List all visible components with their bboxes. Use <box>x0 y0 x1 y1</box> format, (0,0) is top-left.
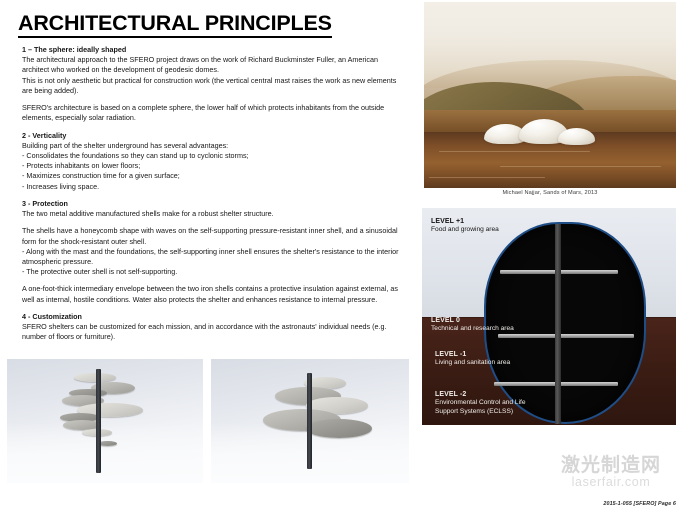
diagram-floor-slab <box>498 334 634 338</box>
section-2-bullet-3: - Maximizes construction time for a give… <box>22 171 404 181</box>
photo-terrain-streak <box>500 166 661 168</box>
paragraph-spacer <box>22 277 404 284</box>
diagram-label-level-minus-1: LEVEL -1 Living and sanitation area <box>435 350 510 368</box>
section-heading-3: 3 - Protection <box>22 199 404 209</box>
page-footer: 2015-1-055 [SFERO] Page 6 <box>603 501 676 507</box>
level-title: LEVEL -1 <box>435 350 510 359</box>
level-title: LEVEL -2 <box>435 390 526 399</box>
section-2-bullet-1: - Consolidates the foundations so they c… <box>22 151 404 161</box>
section-1-paragraph-3: SFERO's architecture is based on a compl… <box>22 103 404 123</box>
photo-caption: Michael Najjar, Sands of Mars, 2013 <box>420 190 680 196</box>
central-mast <box>96 369 101 473</box>
section-2-bullet-2: - Protects inhabitants on lower floors; <box>22 161 404 171</box>
diagram-central-mast <box>555 224 561 424</box>
section-2-paragraph-1: Building part of the shelter underground… <box>22 141 404 151</box>
level-description-line-2: Support Systems (ECLSS) <box>435 408 526 417</box>
helix-plate <box>74 373 116 382</box>
mars-landscape-photo <box>424 2 676 188</box>
habitat-dome <box>558 128 596 145</box>
level-title: LEVEL +1 <box>431 217 499 226</box>
section-heading-4: 4 - Customization <box>22 312 404 322</box>
article-body: 1 – The sphere: ideally shaped The archi… <box>22 45 404 342</box>
shelter-section-diagram: LEVEL +1 Food and growing area LEVEL 0 T… <box>422 208 676 425</box>
helix-plate <box>306 419 372 438</box>
section-1-paragraph-2: This is not only aesthetic but practical… <box>22 76 404 96</box>
paragraph-spacer <box>22 192 404 199</box>
paragraph-spacer <box>22 96 404 103</box>
paragraph-spacer <box>22 305 404 312</box>
diagram-label-level-0: LEVEL 0 Technical and research area <box>431 316 514 334</box>
paragraph-spacer <box>22 124 404 131</box>
central-mast <box>307 373 312 469</box>
level-description: Technical and research area <box>431 325 514 334</box>
level-description: Environmental Control and Life <box>435 399 526 408</box>
level-description: Food and growing area <box>431 226 499 235</box>
section-2-bullet-4: - Increases living space. <box>22 182 404 192</box>
section-3-paragraph-1: The two metal additive manufactured shel… <box>22 209 404 219</box>
page-title: ARCHITECTURAL PRINCIPLES <box>18 11 332 38</box>
section-3-paragraph-2: The shells have a honeycomb shape with w… <box>22 226 404 246</box>
paragraph-spacer <box>22 219 404 226</box>
left-content-column: ARCHITECTURAL PRINCIPLES 1 – The sphere:… <box>0 0 420 511</box>
diagram-label-level-plus-1: LEVEL +1 Food and growing area <box>431 217 499 235</box>
section-heading-2: 2 - Verticality <box>22 131 404 141</box>
diagram-label-level-minus-2: LEVEL -2 Environmental Control and Life … <box>435 390 526 417</box>
mast-render-image-right <box>211 359 409 483</box>
mast-render-row <box>7 359 409 483</box>
section-1-paragraph-1: The architectural approach to the SFERO … <box>22 55 404 75</box>
section-4-paragraph-1: SFERO shelters can be customized for eac… <box>22 322 404 342</box>
section-3-bullet-1: - Along with the mast and the foundation… <box>22 247 404 267</box>
level-title: LEVEL 0 <box>431 316 514 325</box>
section-3-bullet-2: - The protective outer shell is not self… <box>22 267 404 277</box>
section-heading-1: 1 – The sphere: ideally shaped <box>22 45 404 55</box>
section-3-paragraph-3: A one-foot-thick intermediary envelope b… <box>22 284 404 304</box>
mast-render-image-left <box>7 359 203 483</box>
level-description: Living and sanitation area <box>435 359 510 368</box>
